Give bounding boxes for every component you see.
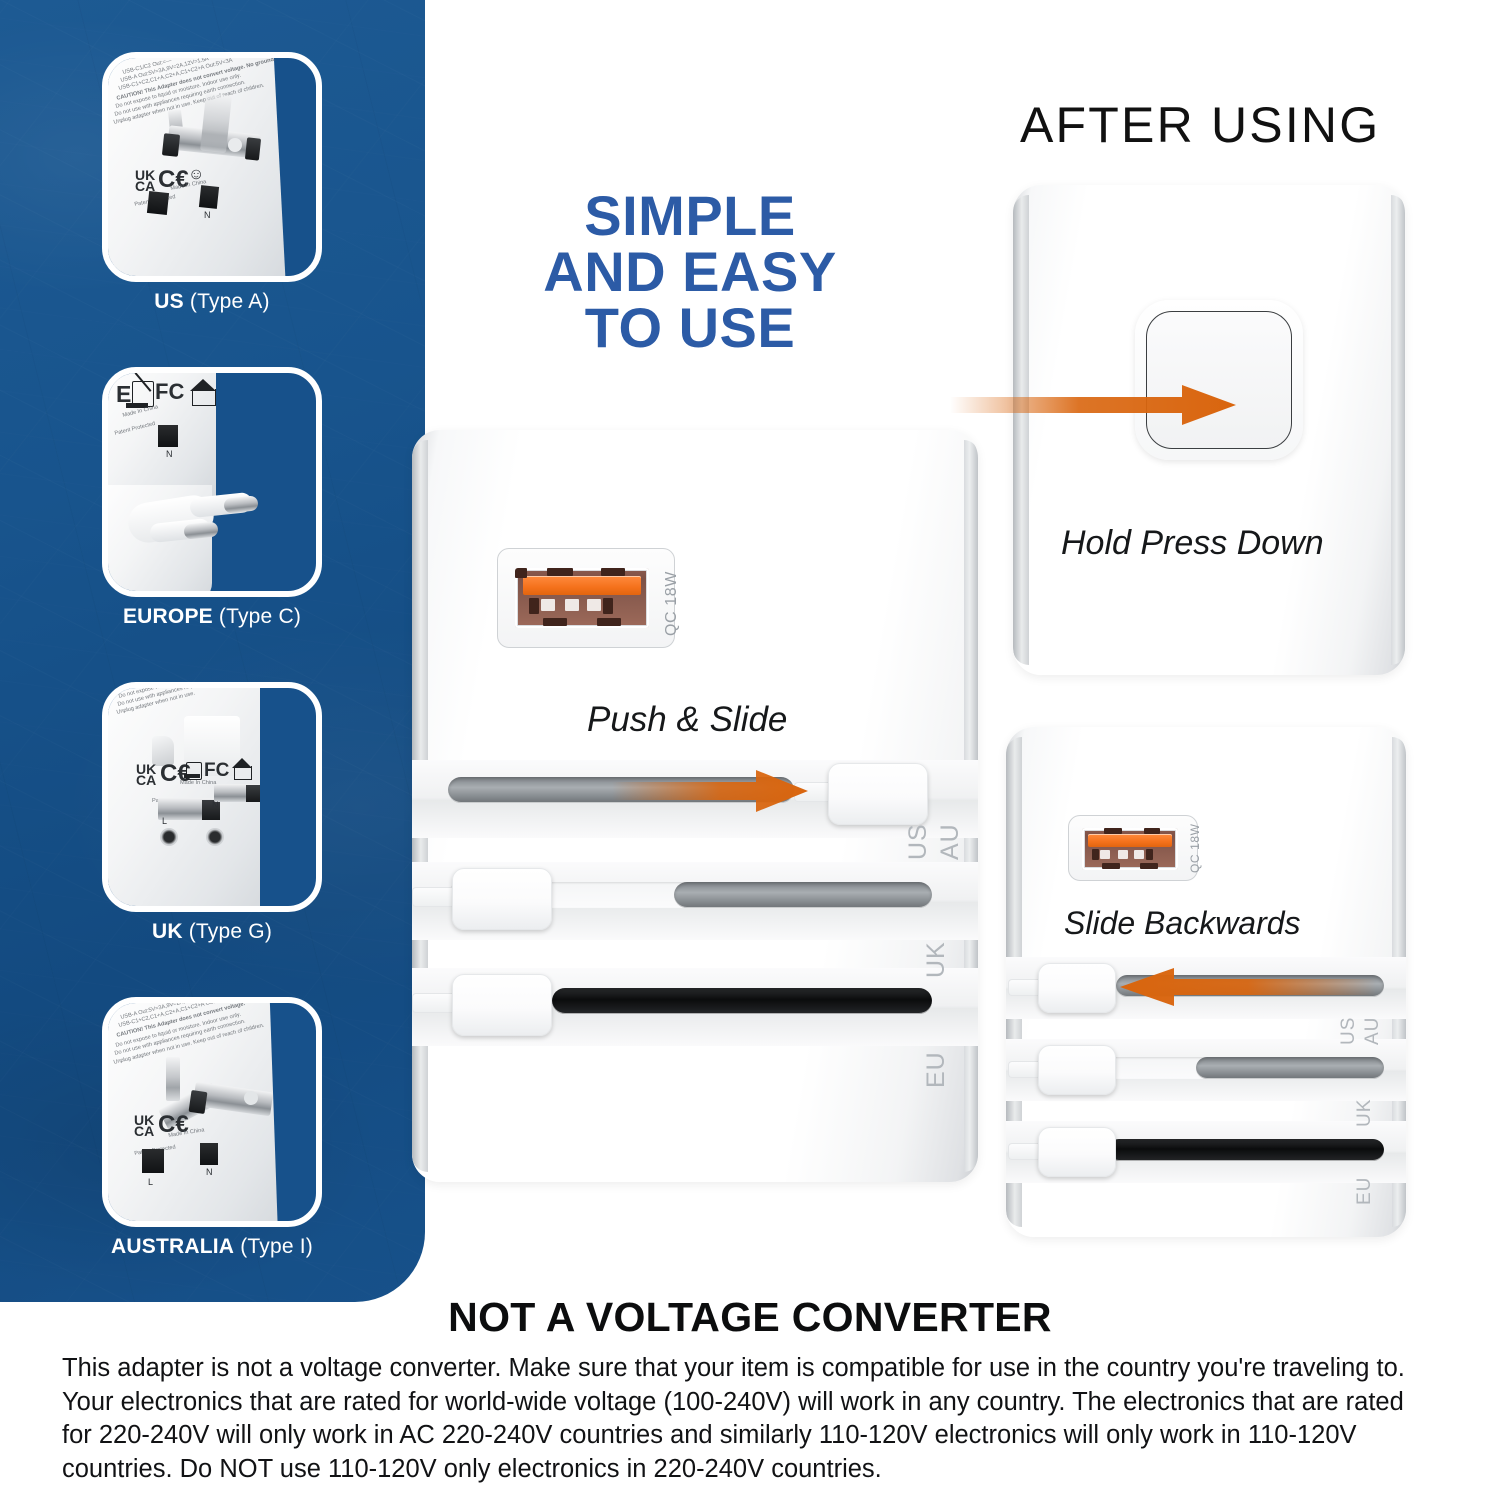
heading-line-3: TO USE — [450, 300, 930, 356]
plug-photo: E FC Made In China Patent Protected N — [108, 373, 316, 591]
slider-label-au: AU — [1362, 1017, 1384, 1045]
adapter-left-rim — [1013, 195, 1029, 665]
slider-label-us: US — [904, 823, 933, 860]
usb-a-port — [1082, 828, 1178, 870]
slider-knob-uk[interactable] — [452, 868, 552, 930]
slide-backwards-label: Slide Backwards — [1064, 905, 1301, 942]
heading-line-2: AND EASY — [450, 244, 930, 300]
usb-a-port — [515, 568, 649, 628]
plug-country-europe: EUROPE — [123, 605, 213, 628]
plug-photo-frame: Do not expose to liquid or moisture. Do … — [102, 682, 322, 912]
press-down-adapter — [1013, 185, 1405, 675]
press-down-arrow-icon — [950, 382, 1240, 428]
usb-port-assembly: QC 18W — [497, 548, 675, 648]
plug-type-europe: (Type C) — [219, 605, 301, 628]
usb-tongue — [523, 576, 641, 595]
slider-knob-us-au[interactable] — [1038, 963, 1116, 1013]
press-down-button[interactable] — [1135, 300, 1303, 460]
slider-label-uk: UK — [1354, 1099, 1376, 1127]
plug-caption-uk: UK (Type G) — [102, 920, 322, 944]
plug-type-us: (Type A) — [190, 290, 270, 313]
slider-knob-us-au[interactable] — [828, 763, 928, 825]
heading-after-using: AFTER USING — [1020, 96, 1380, 154]
plug-photo: USB-C1/C2 Out:=— USB-A Out:5V=3A,9V=2A,1… — [108, 58, 316, 276]
slider-label-eu: EU — [1354, 1177, 1376, 1205]
heading-simple-and-easy: SIMPLE AND EASY TO USE — [450, 188, 930, 356]
plug-country-uk: UK — [152, 920, 183, 943]
usb-port-assembly: QC 18W — [1068, 815, 1198, 881]
infographic-canvas: USB-C1/C2 Out:=— USB-A Out:5V=3A,9V=2A,1… — [0, 0, 1500, 1500]
plug-type-australia: (Type I) — [240, 1235, 313, 1258]
slide-backwards-adapter: QC 18W Slide Backwards US AU UK — [1006, 727, 1406, 1237]
slider-track-uk[interactable] — [674, 882, 932, 908]
slider-label-au: AU — [936, 823, 965, 860]
plug-card-us: USB-C1/C2 Out:=— USB-A Out:5V=3A,9V=2A,1… — [102, 52, 322, 282]
slider-track-uk[interactable] — [1196, 1057, 1384, 1079]
plug-photo-frame: USB-A Out:5V=3A,9V=2A,12V=1.5A USB-C1+C2… — [102, 997, 322, 1227]
plug-card-europe: E FC Made In China Patent Protected N EU… — [102, 367, 322, 597]
plug-photo: USB-A Out:5V=3A,9V=2A,12V=1.5A USB-C1+C2… — [108, 1003, 316, 1221]
slider-label-uk: UK — [922, 941, 951, 978]
plug-caption-australia: AUSTRALIA (Type I) — [102, 1235, 322, 1259]
heading-line-1: SIMPLE — [450, 188, 930, 244]
usb-rating-label: QC 18W — [663, 571, 681, 636]
plug-photo-frame: E FC Made In China Patent Protected N — [102, 367, 322, 597]
slider-track-eu[interactable] — [1108, 1139, 1384, 1161]
plug-card-uk: Do not expose to liquid or moisture. Do … — [102, 682, 322, 912]
usb-rating-label: QC 18W — [1188, 823, 1202, 873]
plug-country-us: US — [154, 290, 184, 313]
plug-caption-europe: EUROPE (Type C) — [102, 605, 322, 629]
slider-knob-uk[interactable] — [1038, 1045, 1116, 1095]
plug-country-australia: AUSTRALIA — [111, 1235, 234, 1258]
slider-label-eu: EU — [922, 1051, 951, 1088]
press-down-button-inner — [1146, 311, 1292, 449]
footer-title: NOT A VOLTAGE CONVERTER — [0, 1294, 1500, 1341]
slider-knob-eu[interactable] — [1038, 1127, 1116, 1177]
push-and-slide-label: Push & Slide — [587, 700, 787, 740]
slider-knob-eu[interactable] — [452, 974, 552, 1036]
usb-tongue — [1088, 834, 1172, 847]
push-slide-arrow-icon — [612, 768, 812, 814]
slider-track-eu[interactable] — [552, 988, 932, 1014]
plug-type-uk: (Type G) — [189, 920, 272, 943]
footer-paragraph: This adapter is not a voltage converter.… — [62, 1352, 1440, 1486]
slider-label-us: US — [1338, 1017, 1360, 1045]
plug-photo: Do not expose to liquid or moisture. Do … — [108, 688, 316, 906]
plug-photo-frame: USB-C1/C2 Out:=— USB-A Out:5V=3A,9V=2A,1… — [102, 52, 322, 282]
plug-caption-us: US (Type A) — [102, 290, 322, 314]
plug-card-australia: USB-A Out:5V=3A,9V=2A,12V=1.5A USB-C1+C2… — [102, 997, 322, 1227]
adapter-right-rim — [1391, 195, 1405, 665]
main-adapter-body: QC 18W Push & Slide US AU UK — [412, 430, 978, 1182]
hold-press-down-label: Hold Press Down — [1061, 524, 1324, 563]
slide-backwards-arrow-icon — [1116, 967, 1376, 1007]
